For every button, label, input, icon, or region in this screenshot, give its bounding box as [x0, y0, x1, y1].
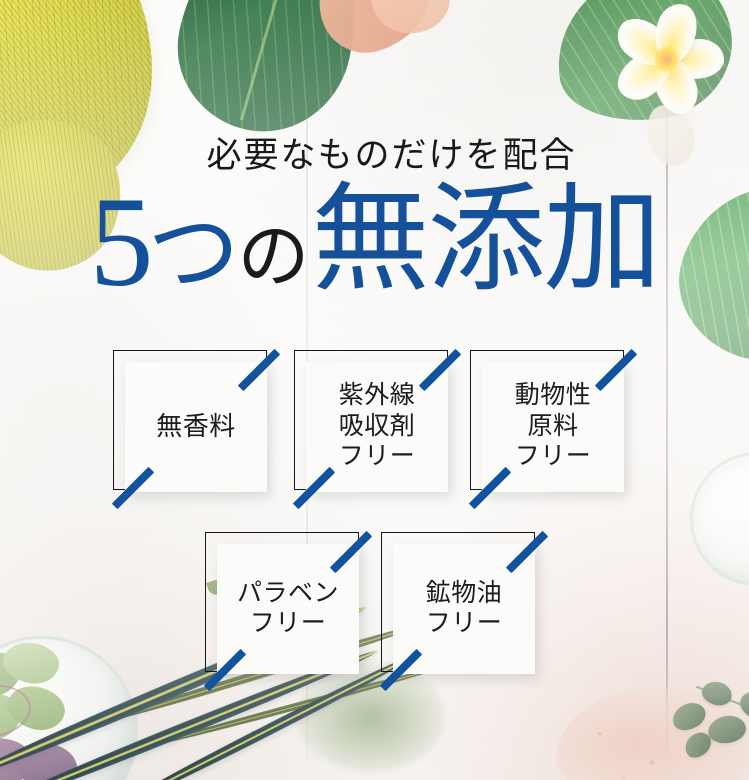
headline-title: 5 つ の 無添加 [0, 181, 749, 291]
badge-paraben-free[interactable]: パラベン フリー [205, 532, 373, 684]
headline-number: 5 [89, 187, 151, 297]
content-layer: 必要なものだけを配合 5 つ の 無添加 無香料 紫外線 吸収剤 フリー [0, 0, 749, 780]
headline-subtitle: 必要なものだけを配合 [34, 138, 749, 173]
badge-label: 動物性 原料 フリー [515, 381, 592, 473]
badge-fragrance-free[interactable]: 無香料 [113, 350, 281, 502]
headline-main: 無添加 [312, 190, 660, 291]
badge-mineral-oil-free[interactable]: 鉱物油 フリー [381, 532, 549, 684]
headline-particle: の [237, 227, 309, 289]
promo-graphic: 必要なものだけを配合 5 つ の 無添加 無香料 紫外線 吸収剤 フリー [0, 0, 749, 780]
badge-label: 無香料 [156, 411, 236, 443]
badge-label: 鉱物油 フリー [426, 579, 503, 640]
badge-label: パラベン フリー [237, 579, 339, 640]
badge-animal-ingredient-free[interactable]: 動物性 原料 フリー [470, 350, 638, 502]
headline-counter: つ [147, 214, 239, 293]
headline-block: 必要なものだけを配合 5 つ の 無添加 [0, 138, 749, 291]
badge-label: 紫外線 吸収剤 フリー [339, 381, 416, 473]
badge-uv-absorber-free[interactable]: 紫外線 吸収剤 フリー [294, 350, 462, 502]
